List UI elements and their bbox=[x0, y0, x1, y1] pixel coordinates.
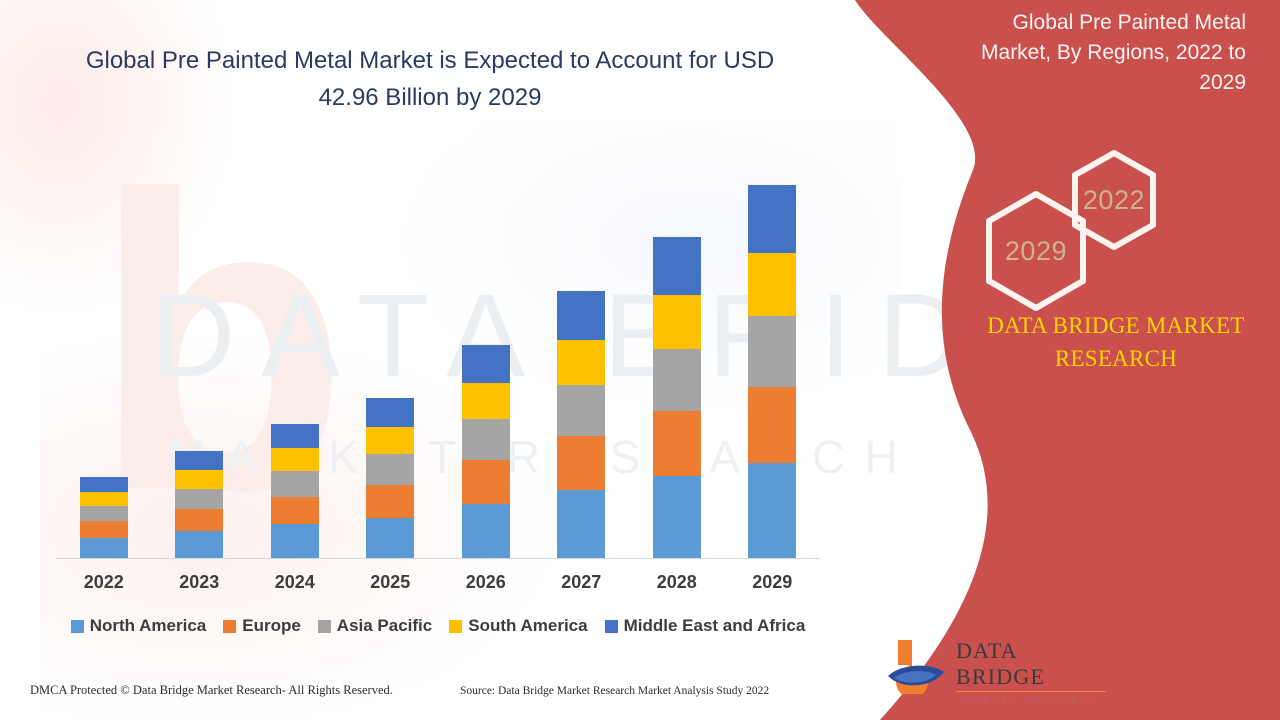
bar-segment bbox=[175, 509, 223, 531]
x-axis-tick-2029: 2029 bbox=[725, 572, 821, 593]
legend-swatch-icon bbox=[71, 620, 84, 633]
bar-segment bbox=[557, 340, 605, 386]
bar-segment bbox=[462, 460, 510, 504]
bar-segment bbox=[175, 531, 223, 558]
x-axis-tick-2025: 2025 bbox=[343, 572, 439, 593]
legend-item: Asia Pacific bbox=[318, 616, 432, 636]
legend-label: Europe bbox=[242, 616, 301, 636]
stacked-bar-2027 bbox=[557, 291, 605, 558]
bar-segment bbox=[271, 524, 319, 558]
legend-item: North America bbox=[71, 616, 207, 636]
bar-segment bbox=[80, 521, 128, 538]
stacked-bar-2029 bbox=[748, 185, 796, 558]
bar-segment bbox=[366, 427, 414, 454]
bar-column bbox=[343, 158, 439, 558]
bar-segment bbox=[653, 295, 701, 349]
bar-segment bbox=[557, 291, 605, 339]
bar-segment bbox=[462, 504, 510, 558]
bar-segment bbox=[557, 436, 605, 490]
bar-column bbox=[56, 158, 152, 558]
x-axis-tick-2027: 2027 bbox=[534, 572, 630, 593]
bar-segment bbox=[653, 411, 701, 477]
bar-column bbox=[152, 158, 248, 558]
bar-segment bbox=[557, 490, 605, 558]
bar-column bbox=[629, 158, 725, 558]
bar-column bbox=[247, 158, 343, 558]
chart-axis-line bbox=[56, 558, 820, 559]
data-bridge-logo: DATA BRIDGE MARKET RESEARCH bbox=[886, 636, 1106, 698]
bar-column bbox=[438, 158, 534, 558]
x-axis-tick-2022: 2022 bbox=[56, 572, 152, 593]
stacked-bar-2025 bbox=[366, 398, 414, 558]
bar-segment bbox=[748, 463, 796, 558]
bar-segment bbox=[271, 497, 319, 524]
x-axis-tick-2023: 2023 bbox=[152, 572, 248, 593]
logo-name: DATA BRIDGE bbox=[956, 638, 1106, 692]
bar-segment bbox=[462, 345, 510, 384]
bar-segment bbox=[748, 253, 796, 316]
footer-source: Source: Data Bridge Market Research Mark… bbox=[460, 685, 769, 697]
legend-swatch-icon bbox=[449, 620, 462, 633]
stacked-bar-2022 bbox=[80, 477, 128, 558]
brand-name: DATA BRIDGE MARKET RESEARCH bbox=[966, 310, 1266, 375]
infographic-stage: b DATA BRIDGE MARKET RESEARCH Global Pre… bbox=[0, 0, 1280, 720]
legend-label: North America bbox=[90, 616, 207, 636]
bar-segment bbox=[366, 485, 414, 517]
bar-segment bbox=[366, 518, 414, 558]
x-axis-tick-2028: 2028 bbox=[629, 572, 725, 593]
bar-segment bbox=[80, 506, 128, 521]
hexagon-group: 2022 2029 bbox=[980, 152, 1180, 282]
logo-wordmark: DATA BRIDGE MARKET RESEARCH bbox=[956, 638, 1106, 705]
hexagon-end-year-label: 2029 bbox=[980, 188, 1092, 314]
legend-swatch-icon bbox=[318, 620, 331, 633]
bar-segment bbox=[271, 471, 319, 496]
legend-item: Europe bbox=[223, 616, 301, 636]
bar-segment bbox=[175, 470, 223, 488]
stacked-bar-2028 bbox=[653, 237, 701, 558]
bar-segment bbox=[748, 316, 796, 387]
legend-label: South America bbox=[468, 616, 587, 636]
bar-segment bbox=[271, 448, 319, 471]
legend-label: Asia Pacific bbox=[337, 616, 432, 636]
bar-segment bbox=[271, 424, 319, 449]
stacked-bar-2026 bbox=[462, 345, 510, 558]
bar-column bbox=[725, 158, 821, 558]
chart-x-axis: 20222023202420252026202720282029 bbox=[56, 572, 820, 593]
bar-segment bbox=[80, 477, 128, 492]
bar-segment bbox=[557, 385, 605, 436]
bar-segment bbox=[175, 489, 223, 509]
bar-segment bbox=[748, 387, 796, 463]
bar-segment bbox=[366, 454, 414, 485]
bar-segment bbox=[748, 185, 796, 253]
bar-segment bbox=[462, 383, 510, 419]
stacked-bar-2024 bbox=[271, 424, 319, 558]
bar-segment bbox=[80, 492, 128, 506]
chart-legend: North AmericaEuropeAsia PacificSouth Ame… bbox=[46, 616, 830, 636]
bar-segment bbox=[80, 538, 128, 558]
legend-label: Middle East and Africa bbox=[624, 616, 806, 636]
legend-item: Middle East and Africa bbox=[605, 616, 806, 636]
bar-segment bbox=[366, 398, 414, 427]
logo-subtitle: MARKET RESEARCH bbox=[956, 695, 1106, 705]
stacked-bar-chart bbox=[56, 158, 820, 558]
bar-segment bbox=[175, 451, 223, 470]
legend-item: South America bbox=[449, 616, 587, 636]
hexagon-end-year: 2029 bbox=[980, 188, 1092, 314]
stacked-bar-2023 bbox=[175, 451, 223, 558]
bar-segment bbox=[653, 349, 701, 410]
footer-copyright: DMCA Protected © Data Bridge Market Rese… bbox=[30, 683, 393, 698]
bar-segment bbox=[462, 419, 510, 459]
bar-column bbox=[534, 158, 630, 558]
chart-title: Global Pre Painted Metal Market is Expec… bbox=[70, 42, 790, 116]
x-axis-tick-2024: 2024 bbox=[247, 572, 343, 593]
panel-title: Global Pre Painted Metal Market, By Regi… bbox=[956, 8, 1246, 97]
legend-swatch-icon bbox=[223, 620, 236, 633]
bar-segment bbox=[653, 237, 701, 295]
legend-swatch-icon bbox=[605, 620, 618, 633]
x-axis-tick-2026: 2026 bbox=[438, 572, 534, 593]
bar-segment bbox=[653, 476, 701, 558]
